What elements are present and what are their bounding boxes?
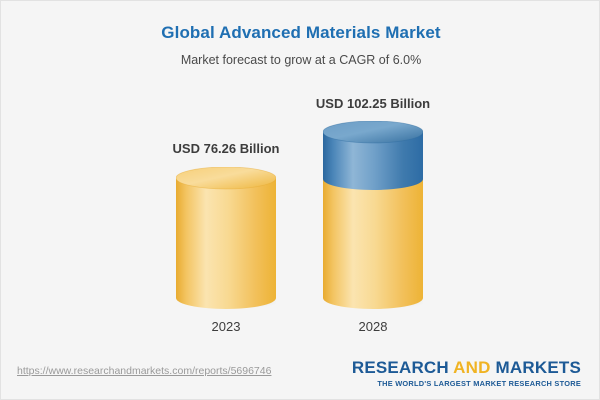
logo-word-research: RESEARCH — [352, 358, 453, 377]
bar-2023 — [176, 167, 276, 309]
logo-word-and: AND — [453, 358, 490, 377]
data-label-2023: USD 76.26 Billion — [116, 141, 336, 156]
chart-card: Global Advanced Materials Market Market … — [0, 0, 600, 400]
chart-plot-area: USD 76.26 Billion — [1, 1, 600, 349]
bar-2028 — [323, 121, 423, 309]
data-label-2028: USD 102.25 Billion — [263, 96, 483, 111]
category-label-2028: 2028 — [263, 319, 483, 334]
research-and-markets-logo[interactable]: RESEARCH AND MARKETS THE WORLD'S LARGEST… — [352, 359, 581, 387]
source-url-link[interactable]: https://www.researchandmarkets.com/repor… — [17, 365, 271, 377]
logo-tagline: THE WORLD'S LARGEST MARKET RESEARCH STOR… — [352, 380, 581, 387]
logo-word-markets: MARKETS — [491, 358, 581, 377]
logo-wordmark: RESEARCH AND MARKETS — [352, 359, 581, 376]
